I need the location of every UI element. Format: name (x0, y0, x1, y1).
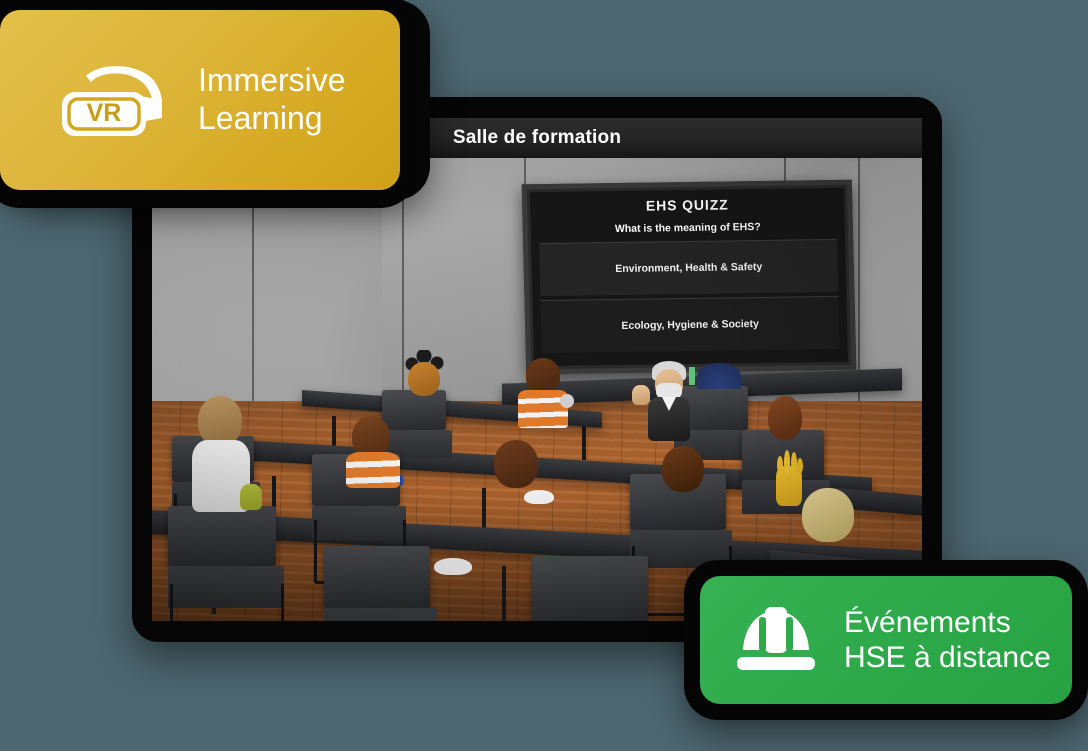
avatar-head (662, 446, 704, 492)
quiz-content: EHS QUIZZ What is the meaning of EHS? En… (530, 188, 848, 366)
avatar-head (802, 488, 854, 542)
vr-headset-icon: VR (58, 60, 176, 140)
desk-prop-mouse (524, 490, 554, 504)
avatar-head (198, 396, 242, 446)
chair-seat (324, 608, 438, 621)
chair-back (532, 556, 648, 621)
glove-finger (791, 452, 797, 474)
vr-training-room-scene: EHS QUIZZ What is the meaning of EHS? En… (152, 158, 922, 621)
vr-icon-text: VR (87, 99, 122, 127)
chair-back (324, 546, 430, 608)
immersive-learning-badge[interactable]: VR Immersive Learning (0, 10, 400, 190)
quiz-answer-option[interactable]: Ecology, Hygiene & Society (541, 296, 840, 353)
quiz-title: EHS QUIZZ (538, 195, 836, 215)
hse-remote-events-label: Événements HSE à distance (844, 605, 1051, 676)
desk-prop-mouse (434, 558, 472, 575)
quiz-answer-option[interactable]: Environment, Health & Safety (539, 239, 838, 296)
glove-finger (797, 458, 803, 474)
glove-finger (784, 450, 790, 474)
chair-back (168, 506, 276, 566)
wall-seam (784, 158, 786, 182)
avatar-cap (697, 363, 741, 389)
avatar-head (526, 358, 560, 394)
chair-frame (170, 584, 284, 621)
presenter-raised-hand (632, 385, 650, 405)
avatar-head (768, 396, 802, 440)
avatar-body (346, 452, 400, 488)
quiz-question: What is the meaning of EHS? (539, 220, 837, 236)
desk-leg (582, 426, 586, 460)
avatar-head (494, 440, 538, 488)
immersive-learning-label: Immersive Learning (198, 62, 346, 138)
chair-back (382, 390, 446, 430)
hse-remote-events-badge[interactable]: Événements HSE à distance (700, 576, 1072, 704)
glove-finger (777, 456, 783, 474)
desk-leg (502, 566, 506, 621)
avatar-pen (689, 367, 695, 385)
avatar-head (408, 362, 440, 396)
page-root: EHS QUIZZ What is the meaning of EHS? En… (0, 0, 1088, 751)
page-title: Salle de formation (453, 127, 621, 149)
avatar-headset (560, 394, 574, 408)
hard-hat-icon (734, 605, 818, 675)
avatar-glove (240, 484, 262, 510)
quiz-display-screen: EHS QUIZZ What is the meaning of EHS? En… (522, 180, 857, 375)
